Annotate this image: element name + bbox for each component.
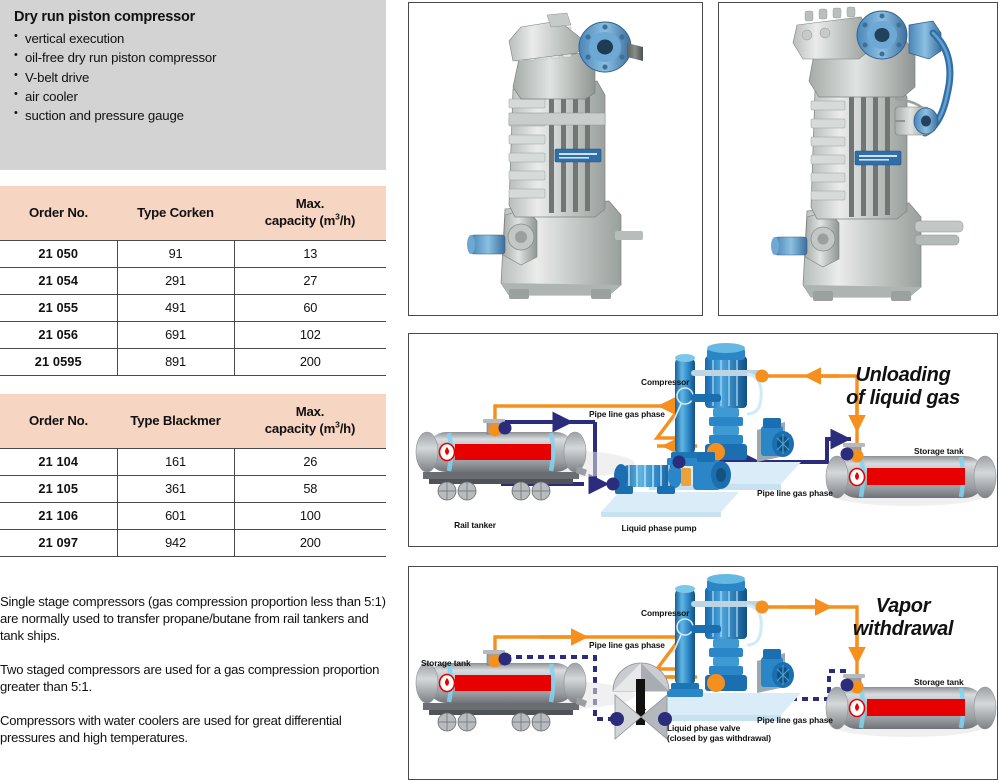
valve-label-line2: (closed by gas withdrawal) bbox=[667, 733, 771, 743]
cell-capacity: 27 bbox=[234, 268, 386, 295]
label-pipe-line-gas-phase-right: Pipe line gas phase bbox=[757, 488, 833, 498]
cell-order-no: 21 050 bbox=[0, 241, 117, 268]
feature-box: Dry run piston compressor vertical execu… bbox=[0, 0, 386, 170]
label-storage-tank-left: Storage tank bbox=[421, 658, 471, 668]
label-liquid-phase-valve: Liquid phase valve (closed by gas withdr… bbox=[667, 723, 771, 744]
connection-dot bbox=[841, 448, 854, 461]
compressor-illustration-belt-drive bbox=[719, 3, 997, 315]
table-row: 21 097 942 200 bbox=[0, 530, 386, 557]
cell-type: 361 bbox=[117, 476, 234, 503]
header-capacity-line2b: /h) bbox=[340, 421, 356, 436]
table-row: 21 105 361 58 bbox=[0, 476, 386, 503]
compressor-photo-single-stage bbox=[409, 3, 702, 315]
header-capacity-line1: Max. bbox=[296, 404, 325, 419]
table-header-row: Order No. Type Corken Max. capacity (m3/… bbox=[0, 186, 386, 241]
compressor-illustration bbox=[409, 3, 702, 315]
feature-bullet: vertical execution bbox=[14, 29, 386, 48]
feature-bullet: suction and pressure gauge bbox=[14, 106, 386, 125]
table-row: 21 106 601 100 bbox=[0, 503, 386, 530]
label-pipe-line-gas-phase-left: Pipe line gas phase bbox=[589, 409, 665, 419]
feature-bullet: air cooler bbox=[14, 87, 386, 106]
cell-capacity: 13 bbox=[234, 241, 386, 268]
cell-order-no: 21 054 bbox=[0, 268, 117, 295]
header-capacity-line1: Max. bbox=[296, 196, 325, 211]
header-type-blackmer: Type Blackmer bbox=[117, 394, 234, 449]
diagram-unloading-liquid-gas: Unloading of liquid gas Compressor Pipe … bbox=[408, 333, 998, 547]
diagram2-title: Vapor withdrawal bbox=[823, 595, 983, 641]
cell-type: 91 bbox=[117, 241, 234, 268]
cell-capacity: 102 bbox=[234, 322, 386, 349]
blackmer-spec-table: Order No. Type Blackmer Max. capacity (m… bbox=[0, 394, 386, 557]
cell-order-no: 21 055 bbox=[0, 295, 117, 322]
cell-order-no: 21 056 bbox=[0, 322, 117, 349]
connection-dot bbox=[499, 653, 512, 666]
table-row: 21 0595 891 200 bbox=[0, 349, 386, 376]
compressor-photo-two-stage bbox=[719, 3, 997, 315]
table-row: 21 054 291 27 bbox=[0, 268, 386, 295]
note-paragraph: Compressors with water coolers are used … bbox=[0, 712, 388, 746]
label-liquid-phase-pump: Liquid phase pump bbox=[621, 523, 696, 533]
header-capacity-line2b: /h) bbox=[340, 213, 356, 228]
cell-type: 891 bbox=[117, 349, 234, 376]
diagram1-title-line2: of liquid gas bbox=[846, 387, 960, 409]
diagram-vapor-withdrawal: Vapor withdrawal Compressor Pipe line ga… bbox=[408, 566, 998, 780]
label-rail-tanker: Rail tanker bbox=[454, 520, 496, 530]
cell-type: 601 bbox=[117, 503, 234, 530]
corken-spec-table: Order No. Type Corken Max. capacity (m3/… bbox=[0, 186, 386, 376]
label-storage-tank: Storage tank bbox=[914, 446, 964, 456]
label-pipe-line-gas-phase-left: Pipe line gas phase bbox=[589, 640, 665, 650]
table-row: 21 055 491 60 bbox=[0, 295, 386, 322]
diagram2-inner: Vapor withdrawal Compressor Pipe line ga… bbox=[409, 567, 997, 779]
diagram1-title: Unloading of liquid gas bbox=[823, 364, 983, 410]
feature-bullet: V-belt drive bbox=[14, 68, 386, 87]
diagram2-title-line2: withdrawal bbox=[853, 618, 953, 640]
cell-type: 291 bbox=[117, 268, 234, 295]
header-order-no: Order No. bbox=[0, 394, 117, 449]
cell-capacity: 200 bbox=[234, 530, 386, 557]
connection-dot bbox=[841, 679, 854, 692]
cell-order-no: 21 106 bbox=[0, 503, 117, 530]
cell-capacity: 26 bbox=[234, 449, 386, 476]
note-paragraph: Single stage compressors (gas compressio… bbox=[0, 593, 388, 644]
cell-capacity: 60 bbox=[234, 295, 386, 322]
cell-order-no: 21 0595 bbox=[0, 349, 117, 376]
diagram1-title-line1: Unloading bbox=[855, 364, 950, 386]
cell-order-no: 21 105 bbox=[0, 476, 117, 503]
datasheet-page: Dry run piston compressor vertical execu… bbox=[0, 0, 1000, 783]
header-capacity-line2a: capacity (m bbox=[265, 421, 335, 436]
cell-capacity: 100 bbox=[234, 503, 386, 530]
label-compressor: Compressor bbox=[641, 608, 689, 618]
product-photo-panel-single-stage bbox=[408, 2, 703, 316]
header-max-capacity: Max. capacity (m3/h) bbox=[234, 394, 386, 449]
cell-order-no: 21 097 bbox=[0, 530, 117, 557]
diagram2-title-line1: Vapor bbox=[876, 595, 930, 617]
product-photo-panel-two-stage bbox=[718, 2, 998, 316]
diagram1-inner: Unloading of liquid gas Compressor Pipe … bbox=[409, 334, 997, 546]
feature-box-title: Dry run piston compressor bbox=[14, 8, 386, 26]
label-compressor: Compressor bbox=[641, 377, 689, 387]
blackmer-table-body: 21 104 161 26 21 105 361 58 21 106 601 1… bbox=[0, 449, 386, 557]
header-capacity-line2a: capacity (m bbox=[265, 213, 335, 228]
cell-type: 942 bbox=[117, 530, 234, 557]
header-order-no: Order No. bbox=[0, 186, 117, 241]
cell-capacity: 200 bbox=[234, 349, 386, 376]
cell-type: 691 bbox=[117, 322, 234, 349]
notes-section: Single stage compressors (gas compressio… bbox=[0, 593, 388, 763]
table-row: 21 056 691 102 bbox=[0, 322, 386, 349]
corken-table-body: 21 050 91 13 21 054 291 27 21 055 491 60… bbox=[0, 241, 386, 376]
table-row: 21 104 161 26 bbox=[0, 449, 386, 476]
cell-type: 491 bbox=[117, 295, 234, 322]
header-max-capacity: Max. capacity (m3/h) bbox=[234, 186, 386, 241]
feature-bullet: oil-free dry run piston compressor bbox=[14, 48, 386, 67]
valve-label-line1: Liquid phase valve bbox=[667, 723, 740, 733]
cell-type: 161 bbox=[117, 449, 234, 476]
label-storage-tank-right: Storage tank bbox=[914, 677, 964, 687]
cell-capacity: 58 bbox=[234, 476, 386, 503]
table-row: 21 050 91 13 bbox=[0, 241, 386, 268]
header-type-corken: Type Corken bbox=[117, 186, 234, 241]
feature-bullet-list: vertical execution oil-free dry run pist… bbox=[14, 29, 386, 125]
cell-order-no: 21 104 bbox=[0, 449, 117, 476]
connection-dot bbox=[499, 422, 512, 435]
note-paragraph: Two staged compressors are used for a ga… bbox=[0, 661, 388, 695]
table-header-row: Order No. Type Blackmer Max. capacity (m… bbox=[0, 394, 386, 449]
